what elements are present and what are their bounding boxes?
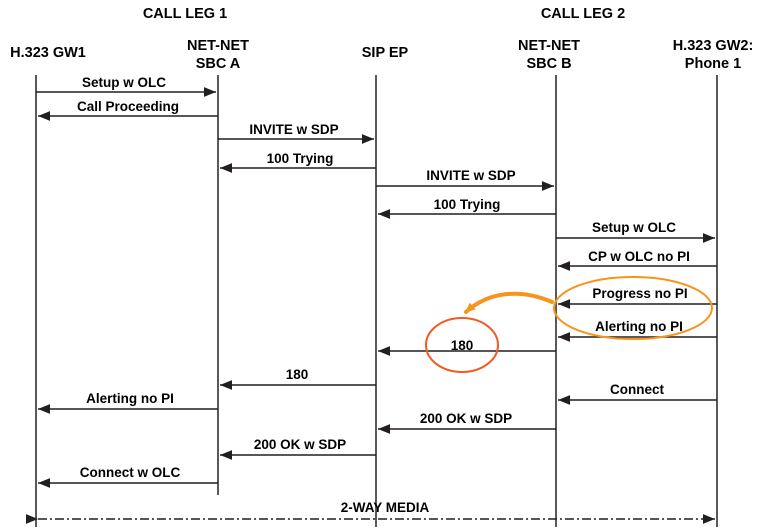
actor-label-gw2-line2: Phone 1	[685, 56, 741, 72]
message-label-invite-w-sdp-2: INVITE w SDP	[426, 168, 515, 183]
lifelines	[36, 75, 717, 527]
media-label: 2-WAY MEDIA	[341, 500, 430, 515]
message-label-100-trying-1: 100 Trying	[267, 151, 334, 166]
actor-label-gw2-line1: H.323 GW2:	[673, 38, 754, 54]
call-leg-2-title: CALL LEG 2	[541, 6, 625, 22]
call-leg-titles: CALL LEG 1 CALL LEG 2	[143, 6, 625, 22]
call-leg-1-title: CALL LEG 1	[143, 6, 227, 22]
message-label-progress-no-pi: Progress no PI	[592, 286, 687, 301]
mapping-curved-arrow-icon	[466, 294, 552, 312]
call-flow-diagram-canvas: CALL LEG 1 CALL LEG 2 H.323 GW1 NET-NET …	[0, 0, 770, 529]
actor-label-sipep-line1: SIP EP	[362, 45, 409, 61]
message-label-200-ok-w-sdp-leg1: 200 OK w SDP	[254, 437, 346, 452]
actor-label-gw1-line1: H.323 GW1	[10, 45, 86, 61]
sequence-diagram: CALL LEG 1 CALL LEG 2 H.323 GW1 NET-NET …	[0, 0, 770, 529]
message-label-cp-w-olc-no-pi: CP w OLC no PI	[588, 249, 690, 264]
actor-label-sbcb-line2: SBC B	[526, 56, 571, 72]
message-label-100-trying-2: 100 Trying	[434, 197, 501, 212]
message-label-180-leg2: 180	[451, 338, 474, 353]
message-label-connect-leg2: Connect	[610, 382, 665, 397]
actor-label-sbcb-line1: NET-NET	[518, 38, 580, 54]
message-label-connect-w-olc: Connect w OLC	[80, 465, 181, 480]
message-label-180-leg1: 180	[286, 367, 309, 382]
message-label-call-proceeding: Call Proceeding	[77, 99, 179, 114]
message-label-setup-w-olc-leg2: Setup w OLC	[592, 220, 676, 235]
message-label-alerting-no-pi-leg1: Alerting no PI	[86, 391, 174, 406]
actor-headers: H.323 GW1 NET-NET SBC A SIP EP NET-NET S…	[10, 38, 753, 72]
message-label-invite-w-sdp-1: INVITE w SDP	[249, 122, 338, 137]
message-label-200-ok-w-sdp-leg2: 200 OK w SDP	[420, 411, 512, 426]
message-label-alerting-no-pi-leg2: Alerting no PI	[595, 319, 683, 334]
actor-label-sbca-line1: NET-NET	[187, 38, 249, 54]
actor-label-sbca-line2: SBC A	[196, 56, 241, 72]
message-label-setup-w-olc-leg1: Setup w OLC	[82, 75, 166, 90]
